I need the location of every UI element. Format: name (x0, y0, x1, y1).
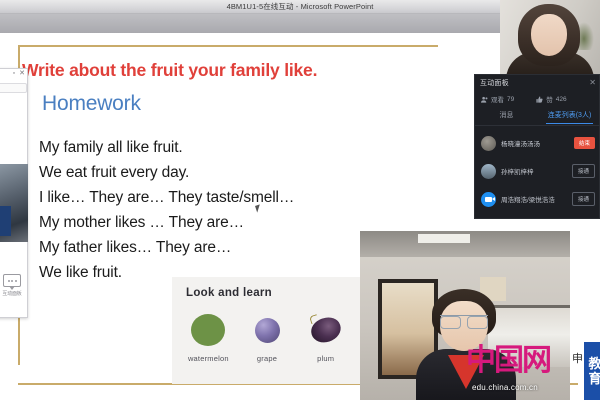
left-window-footer[interactable]: 互动面板 (0, 274, 24, 297)
fruit-label: grape (241, 354, 294, 363)
camera-icon (485, 197, 492, 202)
tab-messages[interactable]: 消息 (475, 110, 538, 120)
watermark: 申 中国网 edu.china.com.cn 教育 (466, 342, 600, 400)
plum-icon (299, 309, 352, 351)
participant-name: 杨晓潼汤汤汤 (501, 138, 569, 148)
teacher-video-face (531, 14, 567, 56)
left-floating-window[interactable]: ▫ ✕ 互动面板 (0, 68, 28, 318)
interaction-panel-stats: 观看 79 赞 426 (481, 92, 595, 106)
interaction-panel-divider (475, 125, 600, 126)
avatar (481, 164, 496, 179)
teacher-video[interactable] (500, 0, 600, 78)
restore-icon[interactable]: ▫ (13, 70, 15, 78)
participant-name: 孙梓凯梓梓 (501, 166, 567, 176)
people-icon (481, 96, 488, 103)
slide-line: My family all like fruit. (39, 135, 369, 160)
left-window-video-thumbnail[interactable] (0, 164, 28, 242)
interaction-panel[interactable]: 互动面板 ✕ 观看 79 赞 426 消息 连麦列表(3人) (474, 74, 600, 219)
list-item: grape (241, 309, 294, 363)
tab-participants[interactable]: 连麦列表(3人) (538, 110, 600, 120)
slide-line: My father likes… They are… (39, 235, 369, 260)
list-item: watermelon (182, 309, 235, 363)
look-and-learn-card: Look and learn watermelon grape plum (172, 277, 360, 384)
close-icon[interactable]: ✕ (19, 70, 25, 78)
stat-label: 观看 (491, 94, 504, 104)
list-item[interactable]: 孙梓凯梓梓 接通 (475, 157, 600, 185)
student-video-glasses (440, 315, 488, 326)
left-window-footer-label: 互动面板 (0, 290, 24, 297)
stat-label: 赞 (546, 94, 553, 104)
list-item[interactable]: 周浩翔浩/梁悦浩浩 接通 (475, 185, 600, 213)
slide-line: I like… They are… They taste/smell… (39, 185, 369, 210)
student-video-ceiling-light (418, 234, 470, 243)
slide-subtitle: Homework (42, 92, 141, 116)
watermark-side-bar: 教育 (584, 342, 600, 400)
list-item[interactable]: 杨晓潼汤汤汤 结束 (475, 129, 600, 157)
interaction-panel-title: 互动面板 (480, 78, 509, 88)
slide-line: My mother likes … They are… (39, 210, 369, 235)
participant-name: 周浩翔浩/梁悦浩浩 (501, 194, 567, 204)
stat-value: 426 (556, 96, 567, 103)
left-window-controls: ▫ ✕ (13, 70, 25, 78)
end-call-button[interactable]: 结束 (574, 137, 595, 149)
interaction-panel-header: 互动面板 ✕ (475, 75, 600, 91)
chat-bubble-icon[interactable] (3, 274, 21, 287)
watermark-url: edu.china.com.cn (472, 383, 538, 392)
slide-body-text: My family all like fruit. We eat fruit e… (39, 135, 369, 285)
status-badge: 观看 79 (481, 94, 514, 104)
look-and-learn-heading: Look and learn (186, 287, 272, 299)
slide-line: We eat fruit every day. (39, 160, 369, 185)
list-item: plum (299, 309, 352, 363)
fruit-label: watermelon (182, 354, 235, 363)
grape-icon (241, 309, 294, 351)
close-icon[interactable]: ✕ (589, 79, 596, 87)
slide-rule-top (18, 45, 438, 47)
participant-list: 杨晓潼汤汤汤 结束 孙梓凯梓梓 接通 周浩翔浩/梁悦浩浩 接通 (475, 129, 600, 213)
fruit-label: plum (299, 354, 352, 363)
slide-title: Write about the fruit your family like. (22, 60, 362, 81)
thumbs-up-icon (536, 96, 543, 103)
avatar (481, 192, 496, 207)
watermelon-icon (182, 309, 235, 351)
interaction-panel-tabs: 消息 连麦列表(3人) (475, 107, 600, 123)
screen-root: 4BM1U1-5在线互动 - Microsoft PowerPoint Writ… (0, 0, 600, 400)
avatar (481, 136, 496, 151)
connect-button[interactable]: 接通 (572, 164, 595, 178)
watermark-shen-char: 申 (572, 350, 583, 366)
window-title: 4BM1U1-5在线互动 - Microsoft PowerPoint (227, 1, 374, 12)
look-and-learn-items: watermelon grape plum (182, 309, 352, 363)
status-badge: 赞 426 (536, 94, 566, 104)
connect-button[interactable]: 接通 (572, 192, 595, 206)
search-input[interactable] (0, 83, 27, 93)
stat-value: 79 (507, 96, 514, 103)
watermark-logo: 中国网 (466, 346, 550, 376)
